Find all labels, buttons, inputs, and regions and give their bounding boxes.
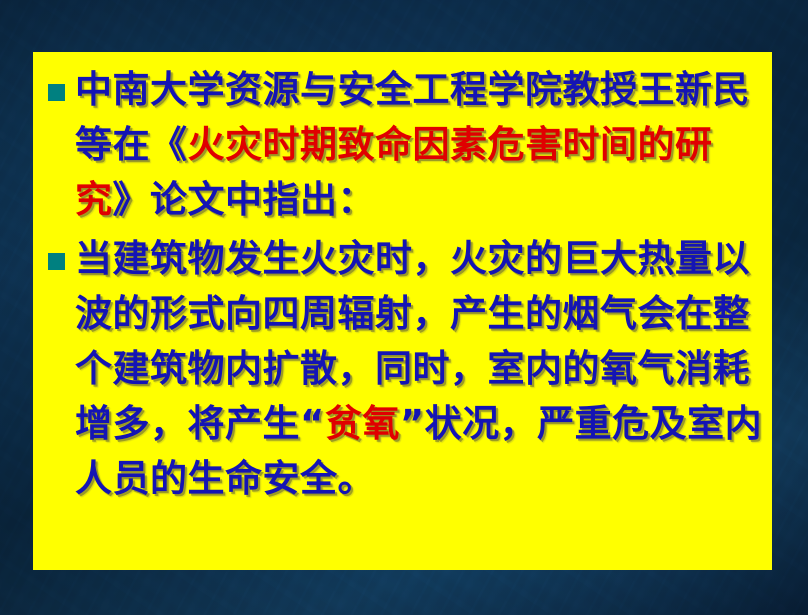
square-bullet-icon [48, 84, 65, 101]
square-bullet-icon [48, 253, 65, 270]
presentation-slide: 中南大学资源与安全工程学院教授王新民等在《火灾时期致命因素危害时间的研究》论文中… [0, 0, 808, 615]
bullet-paragraph-2: 当建筑物发生火灾时，火灾的巨大热量以波的形式向四周辐射，产生的烟气会在整个建筑物… [75, 231, 764, 506]
bullet-1-segment-3: 》论文中指出： [113, 178, 376, 221]
yellow-content-panel: 中南大学资源与安全工程学院教授王新民等在《火灾时期致命因素危害时间的研究》论文中… [33, 52, 772, 570]
bullet-2-segment-2-highlight: 贫氧 [325, 402, 400, 445]
bullet-paragraph-1: 中南大学资源与安全工程学院教授王新民等在《火灾时期致命因素危害时间的研究》论文中… [75, 62, 764, 227]
bullet-item-1: 中南大学资源与安全工程学院教授王新民等在《火灾时期致命因素危害时间的研究》论文中… [41, 62, 764, 227]
bullet-item-2: 当建筑物发生火灾时，火灾的巨大热量以波的形式向四周辐射，产生的烟气会在整个建筑物… [41, 231, 764, 506]
